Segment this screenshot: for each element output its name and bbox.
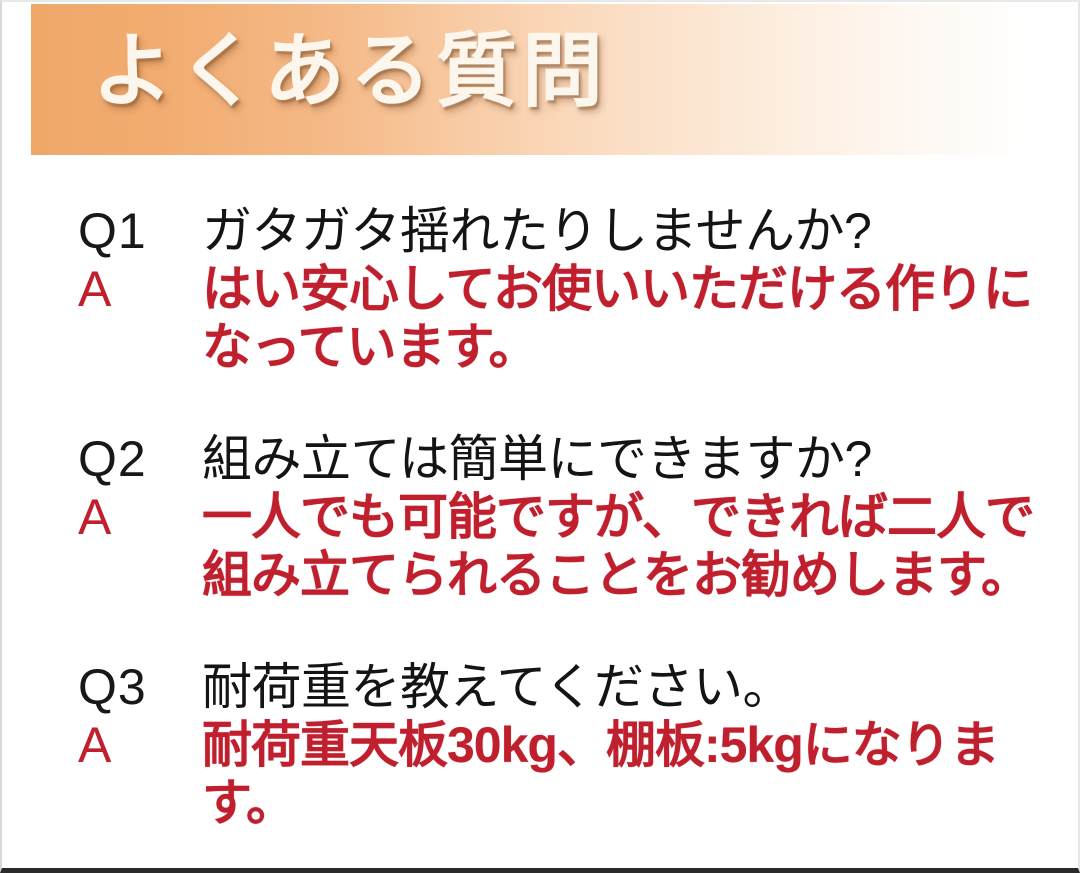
answer-text: 一人でも可能ですが、できれば二人で組み立てられることをお勧めします。 bbox=[202, 488, 1050, 604]
question-label: Q2 bbox=[78, 430, 198, 488]
question-row: Q1 ガタガタ揺れたりしませんか? bbox=[2, 202, 1080, 260]
faq-page: よくある質問 Q1 ガタガタ揺れたりしませんか? A はい安心してお使いいただけ… bbox=[0, 0, 1080, 873]
faq-banner: よくある質問 bbox=[31, 4, 1077, 155]
answer-row: A 一人でも可能ですが、できれば二人で組み立てられることをお勧めします。 bbox=[2, 488, 1080, 604]
question-row: Q2 組み立ては簡単にできますか? bbox=[2, 430, 1080, 488]
faq-item: Q1 ガタガタ揺れたりしませんか? A はい安心してお使いいただける作りになって… bbox=[2, 202, 1080, 376]
answer-row: A 耐荷重天板30kg、棚板:5kgになります。 bbox=[2, 716, 1080, 832]
question-text: ガタガタ揺れたりしませんか? bbox=[202, 202, 1050, 260]
faq-item: Q3 耐荷重を教えてください。 A 耐荷重天板30kg、棚板:5kgになります。 bbox=[2, 658, 1080, 832]
answer-text: 耐荷重天板30kg、棚板:5kgになります。 bbox=[202, 716, 1050, 832]
answer-label: A bbox=[78, 488, 198, 546]
question-text: 組み立ては簡単にできますか? bbox=[202, 430, 1050, 488]
faq-list: Q1 ガタガタ揺れたりしませんか? A はい安心してお使いいただける作りになって… bbox=[2, 202, 1080, 832]
answer-text: はい安心してお使いいただける作りになっています。 bbox=[202, 260, 1050, 376]
question-label: Q3 bbox=[78, 658, 198, 716]
answer-row: A はい安心してお使いいただける作りになっています。 bbox=[2, 260, 1080, 376]
question-row: Q3 耐荷重を教えてください。 bbox=[2, 658, 1080, 716]
page-title: よくある質問 bbox=[92, 25, 608, 121]
question-label: Q1 bbox=[78, 202, 198, 260]
question-text: 耐荷重を教えてください。 bbox=[202, 658, 1050, 716]
faq-item: Q2 組み立ては簡単にできますか? A 一人でも可能ですが、できれば二人で組み立… bbox=[2, 430, 1080, 604]
answer-label: A bbox=[78, 260, 198, 318]
answer-label: A bbox=[78, 716, 198, 774]
